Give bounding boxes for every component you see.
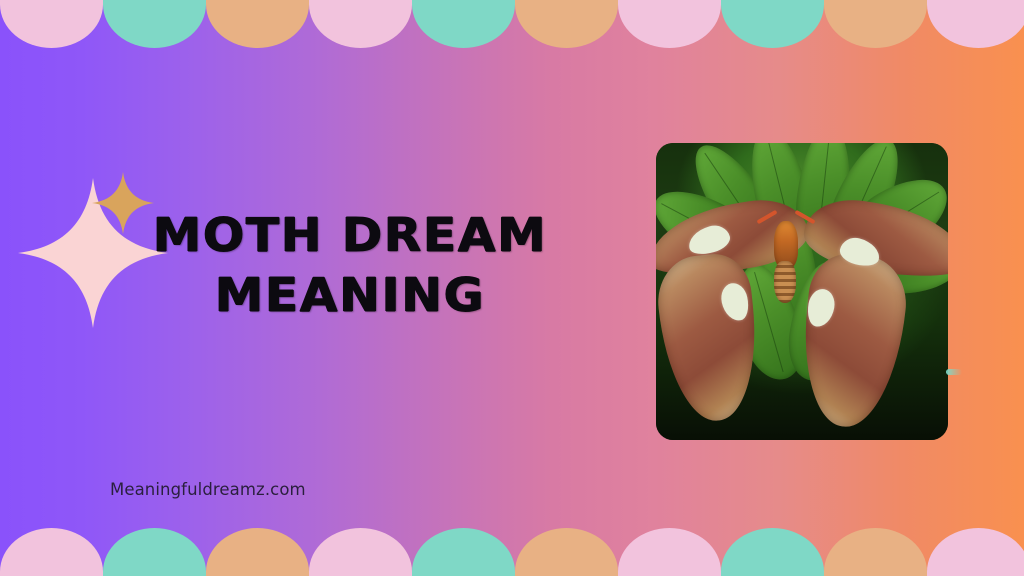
moth-right-hindwing xyxy=(795,250,910,431)
teal-accent-sliver xyxy=(946,369,962,375)
site-watermark: Meaningfuldreamz.com xyxy=(110,480,306,499)
title-line-2: MEANING xyxy=(43,265,658,325)
page-title: MOTH DREAM MEANING xyxy=(60,205,640,325)
moth-photo xyxy=(656,143,948,440)
moth-abdomen xyxy=(774,261,796,303)
title-line-1: MOTH DREAM xyxy=(43,205,658,265)
poster-canvas: MOTH DREAM MEANING Meaningfuldreamz.com xyxy=(0,0,1024,576)
moth-photo-scene xyxy=(656,143,948,440)
